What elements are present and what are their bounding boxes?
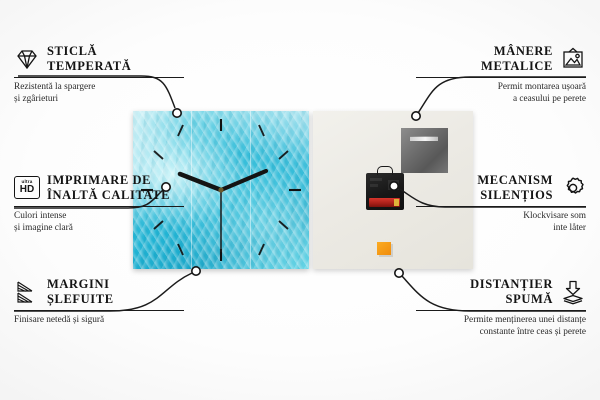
feature-silent-mechanism: MECANISM SILENȚIOS Klockvisare som inte …: [416, 173, 586, 235]
foam-spacer: [377, 242, 391, 255]
feature-desc-line1: Finisare netedă și sigură: [14, 315, 104, 325]
feature-desc-line1: Permit montarea ușoară: [498, 82, 586, 92]
feature-desc-line1: Permite menținerea unei distanțe: [464, 315, 586, 325]
ultra-hd-icon-hd-text: HD: [20, 185, 34, 195]
feature-title-line1: DISTANȚIER: [470, 277, 553, 291]
feature-desc-line2: inte låter: [553, 223, 586, 233]
movement-detail: [370, 178, 382, 181]
feature-title-line1: MECANISM: [477, 173, 553, 187]
feature-title: MARGINI ȘLEFUITE: [47, 277, 114, 307]
feature-desc-line2: și zgârieturi: [14, 94, 58, 104]
feature-polished-edges: MARGINI ȘLEFUITE Finisare netedă și sigu…: [14, 277, 184, 326]
foam-spacer-icon: [560, 279, 586, 305]
metal-hanger-plate: [401, 128, 448, 173]
feature-desc-line1: Rezistentă la spargere: [14, 82, 95, 92]
feature-title-line2: ȘLEFUITE: [47, 292, 114, 306]
feature-desc-line2: a ceasului pe perete: [513, 94, 586, 104]
clock-movement: [366, 173, 404, 210]
feature-description: Klockvisare som inte låter: [416, 210, 586, 235]
feature-title-line2: ÎNALTĂ CALITATE: [47, 188, 170, 202]
ultra-hd-icon: ultra HD: [14, 176, 40, 199]
polished-edges-icon: [14, 279, 40, 305]
infographic-canvas: STICLĂ TEMPERATĂ Rezistentă la spargere …: [0, 0, 600, 400]
connector-dot-spacer: [395, 269, 403, 277]
feature-rule: [416, 310, 586, 312]
feature-rule: [416, 77, 586, 79]
feature-head: MARGINI ȘLEFUITE: [14, 277, 184, 307]
feature-title: STICLĂ TEMPERATĂ: [47, 44, 131, 74]
feature-title-line2: SPUMĂ: [506, 292, 553, 306]
feature-title-line2: TEMPERATĂ: [47, 59, 131, 73]
picture-hanger-icon: [560, 46, 586, 72]
feature-description: Permit montarea ușoară a ceasului pe per…: [416, 81, 586, 106]
feature-title-line2: SILENȚIOS: [480, 188, 553, 202]
feature-head: MÂNERE METALICE: [416, 44, 586, 74]
hanger-slot: [410, 136, 438, 141]
feature-head: DISTANȚIER SPUMĂ: [416, 277, 586, 307]
feature-title: IMPRIMARE DE ÎNALTĂ CALITATE: [47, 173, 170, 203]
movement-hanger-loop: [377, 166, 393, 175]
feature-title-line2: METALICE: [481, 59, 553, 73]
feature-head: ultra HD IMPRIMARE DE ÎNALTĂ CALITATE: [14, 173, 184, 203]
feature-description: Finisare netedă și sigură: [14, 314, 184, 326]
feature-rule: [416, 206, 586, 208]
movement-detail: [388, 180, 399, 190]
feature-title: DISTANȚIER SPUMĂ: [470, 277, 553, 307]
feature-description: Rezistentă la spargere și zgârieturi: [14, 81, 184, 106]
feature-tempered-glass: STICLĂ TEMPERATĂ Rezistentă la spargere …: [14, 44, 184, 106]
diamond-icon: [14, 46, 40, 72]
feature-description: Culori intense și imagine clară: [14, 210, 184, 235]
feature-desc-line1: Culori intense: [14, 211, 66, 221]
feature-desc-line2: și imagine clară: [14, 223, 73, 233]
feature-desc-line2: constante între ceas și perete: [480, 327, 586, 337]
feature-rule: [14, 77, 184, 79]
gear-icon: [560, 175, 586, 201]
feature-description: Permite menținerea unei distanțe constan…: [416, 314, 586, 339]
feature-title-line1: MARGINI: [47, 277, 110, 291]
movement-detail: [370, 184, 378, 187]
feature-metal-hooks: MÂNERE METALICE Permit montarea ușoară a…: [416, 44, 586, 106]
feature-rule: [14, 310, 184, 312]
battery: [369, 198, 400, 207]
feature-desc-line1: Klockvisare som: [523, 211, 586, 221]
feature-high-quality-print: ultra HD IMPRIMARE DE ÎNALTĂ CALITATE Cu…: [14, 173, 184, 235]
feature-title-line1: IMPRIMARE DE: [47, 173, 151, 187]
feature-head: STICLĂ TEMPERATĂ: [14, 44, 184, 74]
feature-head: MECANISM SILENȚIOS: [416, 173, 586, 203]
feature-title-line1: MÂNERE: [494, 44, 553, 58]
feature-title: MECANISM SILENȚIOS: [477, 173, 553, 203]
feature-title: MÂNERE METALICE: [481, 44, 553, 74]
feature-rule: [14, 206, 184, 208]
feature-title-line1: STICLĂ: [47, 44, 97, 58]
battery-tip: [394, 199, 399, 206]
feature-foam-spacer: DISTANȚIER SPUMĂ Permite menținerea unei…: [416, 277, 586, 339]
